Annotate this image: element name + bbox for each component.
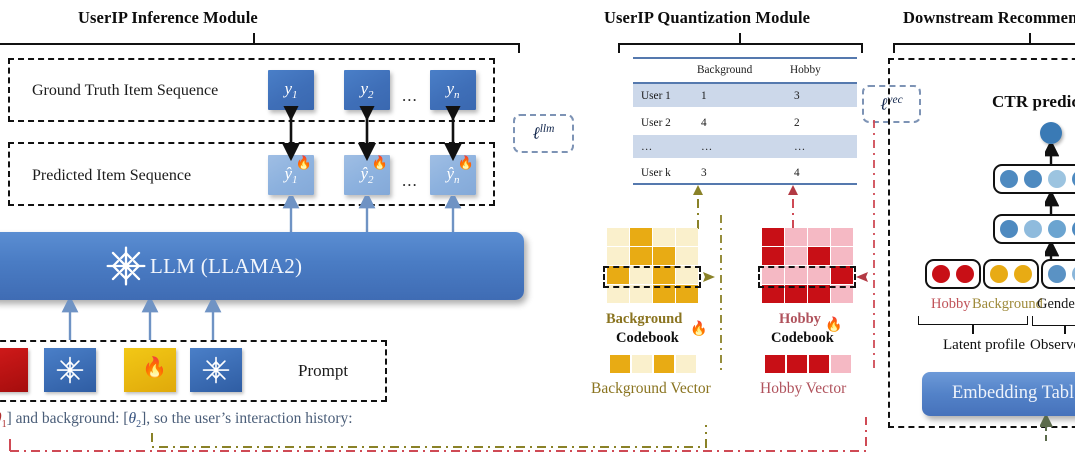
arrow-into-embedding	[1040, 416, 1054, 442]
ground-truth-label: Ground Truth Item Sequence	[32, 82, 218, 100]
nn-layer-1-node-3	[1048, 170, 1066, 188]
prompt-tile-flame: 🔥	[124, 348, 176, 392]
snowflake-icon	[104, 244, 148, 288]
bracket-inference	[0, 43, 520, 53]
background-codebook-cell-0-3	[676, 228, 698, 246]
gt-pred-arrows	[255, 106, 495, 161]
snowflake-icon	[55, 355, 85, 385]
background-selected-row-box	[603, 266, 701, 288]
bracket-observed-profile	[1032, 316, 1075, 326]
prompt-tile-snowflake-1	[44, 348, 96, 392]
embedding-table-block: Embedding Table	[922, 372, 1075, 416]
ctr-label: CTR prediction	[992, 92, 1075, 112]
background-codebook-cell-0-1	[630, 228, 652, 246]
background-codebook-caption-1: Background	[606, 311, 682, 328]
hobby-codebook-caption-1: Hobby	[779, 311, 821, 328]
observed-profile-label: Observed profile	[1030, 337, 1075, 354]
bracket-tick-downstream	[1029, 33, 1031, 44]
table-cell-r3c1: …	[641, 141, 652, 153]
ground-truth-item-1-text: y1	[268, 79, 314, 101]
ground-truth-ellipsis: ...	[402, 86, 418, 106]
diagram-canvas: UserIP Inference Module UserIP Quantizat…	[0, 0, 1075, 457]
hobby-vec-cell-3	[831, 355, 851, 373]
table-cell-r4c1: User k	[641, 167, 671, 179]
hobby-codebook-cell-0-2	[808, 228, 830, 246]
table-cell-r2c3: 2	[794, 117, 800, 129]
latent-profile-label: Latent profile	[943, 337, 1025, 354]
hobby-vec-cell-2	[809, 355, 829, 373]
table-cell-r1c2: 1	[701, 90, 707, 102]
arrow-layer1-to-output	[1045, 144, 1059, 166]
feature-label-hobby: Hobby	[931, 296, 970, 313]
nn-layer-2-node-2	[1024, 220, 1042, 238]
feature-node-gender-1	[1048, 265, 1066, 283]
nn-layer-2-node-3	[1048, 220, 1066, 238]
module-title-quantization: UserIP Quantization Module	[604, 8, 810, 28]
nn-layer-1-node-2	[1024, 170, 1042, 188]
flame-icon: 🔥	[825, 319, 842, 333]
hobby-divider	[871, 120, 877, 375]
bracket-latent-profile	[918, 316, 1028, 325]
feature-node-background-2	[1014, 265, 1032, 283]
table-row-shade-3	[633, 135, 857, 158]
hobby-codebook-cell-0-1	[785, 228, 807, 246]
loss-llm-badge: ℓllm	[513, 114, 574, 153]
bracket-tick-observed	[1064, 325, 1066, 334]
hobby-codebook-cell-1-3	[831, 247, 853, 265]
table-cell-r4c3: 4	[794, 167, 800, 179]
nn-layer-1-node-1	[1000, 170, 1018, 188]
arrow-layer2-to-layer1	[1045, 194, 1059, 216]
background-selector-arrow	[697, 268, 719, 286]
feature-label-gender: Gender	[1037, 296, 1075, 313]
background-vector-caption: Background Vector	[591, 380, 711, 398]
predicted-item-n: ŷn 🔥	[430, 155, 476, 195]
snowflake-icon	[201, 355, 231, 385]
ground-truth-item-n: yn	[430, 70, 476, 110]
prompt-label: Prompt	[298, 361, 348, 381]
bracket-downstream	[893, 43, 1075, 53]
llm-to-pred-arrows	[255, 196, 495, 236]
table-rule-top	[633, 57, 857, 59]
hobby-codebook-cell-0-0	[762, 228, 784, 246]
background-codebook-cell-1-0	[607, 247, 629, 265]
prompt-tile-snowflake-2	[190, 348, 242, 392]
table-cell-r3c3: …	[794, 141, 805, 153]
feature-node-background-1	[990, 265, 1008, 283]
background-vec-cell-0	[610, 355, 630, 373]
flame-icon: 🔥	[690, 323, 707, 337]
background-codebook-cell-0-2	[653, 228, 675, 246]
bracket-tick-quantization	[739, 33, 741, 44]
embedding-table-label: Embedding Table	[952, 383, 1075, 404]
hobby-codebook-cell-1-1	[785, 247, 807, 265]
background-vector-cells	[610, 355, 698, 373]
table-header-background: Background	[697, 64, 752, 76]
predicted-ellipsis: ...	[402, 171, 418, 191]
prompt-tile-red	[0, 348, 28, 392]
prompt-to-llm-arrows	[55, 300, 245, 342]
table-rule-bottom	[633, 183, 857, 185]
hobby-vector-caption: Hobby Vector	[760, 380, 846, 398]
background-codebook-caption-2: Codebook	[616, 330, 679, 347]
ground-truth-item-2: y2	[344, 70, 390, 110]
nn-layer-2-node-1	[1000, 220, 1018, 238]
predicted-label: Predicted Item Sequence	[32, 167, 191, 185]
module-title-inference: UserIP Inference Module	[78, 8, 258, 28]
table-cell-r2c1: User 2	[641, 117, 671, 129]
feature-node-hobby-2	[956, 265, 974, 283]
bracket-tick-latent	[972, 325, 974, 334]
loss-llm-text: ℓllm	[533, 123, 555, 144]
table-cell-r2c2: 4	[701, 117, 707, 129]
ground-truth-item-2-text: y2	[344, 79, 390, 101]
ctr-output-node	[1040, 122, 1062, 144]
ground-truth-item-n-text: yn	[430, 79, 476, 101]
hobby-vec-cell-1	[787, 355, 807, 373]
background-arrow-up	[688, 185, 708, 230]
background-feedback-path	[150, 425, 710, 457]
background-codebook-cell-1-2	[653, 247, 675, 265]
bracket-tick-inference	[253, 33, 255, 44]
hobby-codebook-cell-1-0	[762, 247, 784, 265]
llm-label: LLM (LLAMA2)	[150, 254, 302, 279]
background-codebook-cell-1-3	[676, 247, 698, 265]
ground-truth-item-1: y1	[268, 70, 314, 110]
llm-block: LLM (LLAMA2)	[0, 232, 524, 300]
hobby-codebook-cell-1-2	[808, 247, 830, 265]
background-codebook-cell-0-0	[607, 228, 629, 246]
table-cell-r4c2: 3	[701, 167, 707, 179]
module-title-downstream: Downstream Recommendation Module	[903, 8, 1075, 28]
table-cell-r3c2: …	[701, 141, 712, 153]
table-cell-r1c3: 3	[794, 90, 800, 102]
hobby-selected-row-box	[758, 266, 856, 288]
hobby-vector-cells	[765, 355, 853, 373]
feature-node-hobby-1	[932, 265, 950, 283]
predicted-item-2: ŷ2 🔥	[344, 155, 390, 195]
table-cell-r1c1: User 1	[641, 90, 671, 102]
bracket-quantization	[618, 43, 863, 53]
predicted-item-1: ŷ1 🔥	[268, 155, 314, 195]
background-vec-cell-3	[676, 355, 696, 373]
feature-label-background: Background	[972, 296, 1043, 313]
hobby-codebook-cell-0-3	[831, 228, 853, 246]
flame-icon: 🔥	[142, 358, 167, 378]
table-header-hobby: Hobby	[790, 64, 821, 76]
background-divider	[718, 215, 724, 375]
hobby-arrow-up	[783, 185, 803, 230]
background-codebook-cell-1-1	[630, 247, 652, 265]
background-vec-cell-2	[654, 355, 674, 373]
hobby-vec-cell-0	[765, 355, 785, 373]
background-vec-cell-1	[632, 355, 652, 373]
